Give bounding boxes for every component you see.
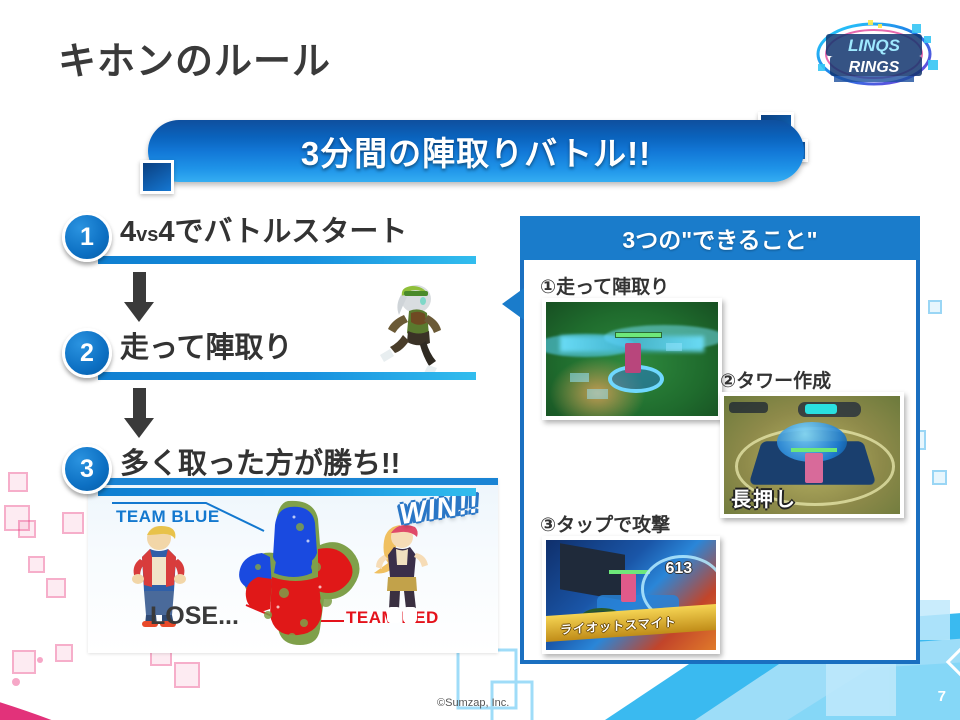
step-label: 走って陣取り [120, 324, 293, 366]
ability-3-damage: 613 [666, 560, 693, 578]
deco-square [28, 556, 45, 573]
deco-square [46, 578, 66, 598]
lose-text: LOSE... [150, 602, 239, 631]
deco-square [62, 512, 84, 534]
step-label: 多く取った方が勝ち!! [120, 440, 400, 482]
step-underline [98, 488, 476, 496]
step-label-num: 4 [120, 216, 136, 248]
abilities-panel-header: 3つの"できること" [520, 216, 920, 260]
deco-square [174, 662, 200, 688]
ability-2-caption: ②タワー作成 [720, 366, 831, 393]
step-label-rest: 4でバトルスタート [158, 216, 407, 248]
step-1: 1 4vs4でバトルスタート [58, 208, 488, 270]
step-label-vs: vs [136, 224, 158, 246]
ability-1-caption: ①走って陣取り [540, 272, 669, 299]
panel-pointer-icon [502, 288, 524, 320]
abilities-panel-title: 3つの"できること" [622, 221, 817, 255]
deco-square [12, 650, 36, 674]
main-banner: 3分間の陣取りバトル!! [140, 112, 812, 190]
step-3: 3 多く取った方が勝ち!! [58, 440, 488, 502]
step-label: 4vs4でバトルスタート [120, 208, 407, 250]
slide-root: キホンのルール LINQS RINGS [0, 0, 960, 720]
banner-pill: 3分間の陣取りバトル!! [148, 120, 804, 182]
ability-2-screenshot: 長押し [720, 392, 904, 518]
flow-arrow-icon [124, 388, 154, 440]
step-badge: 3 [62, 444, 112, 494]
step-badge: 1 [62, 212, 112, 262]
page-number: 7 [938, 688, 946, 705]
svg-text:RINGS: RINGS [849, 59, 900, 76]
deco-square [8, 472, 28, 492]
game-logo: LINQS RINGS [804, 14, 944, 92]
deco-square [4, 505, 30, 531]
deco-square [55, 644, 73, 662]
step-badge: 2 [62, 328, 112, 378]
banner-deco-square [140, 160, 174, 194]
result-panel: TEAM BLUE TEAM RED [88, 478, 498, 653]
copyright-text: ©Sumzap, Inc. [437, 697, 509, 709]
winning-character-art [370, 519, 432, 627]
deco-square [18, 520, 36, 538]
abilities-panel: 3つの"できること" ①走って陣取り ②タワー作成 [520, 216, 920, 664]
page-title: キホンのルール [58, 30, 331, 85]
running-character-art [368, 281, 454, 375]
banner-text: 3分間の陣取りバトル!! [301, 127, 651, 175]
flow-arrow-icon [124, 272, 154, 324]
deco-square [932, 470, 947, 485]
ability-1-screenshot [542, 298, 722, 420]
territory-map-art [228, 497, 368, 649]
step-underline [98, 372, 476, 380]
deco-square [928, 300, 942, 314]
step-underline [98, 256, 476, 264]
svg-text:LINQS: LINQS [848, 36, 901, 55]
ability-3-caption: ③タップで攻撃 [540, 510, 670, 537]
ability-2-overlay-text: 長押し [731, 483, 797, 512]
ability-3-screenshot: 613 ライオットスマイト [542, 536, 720, 654]
